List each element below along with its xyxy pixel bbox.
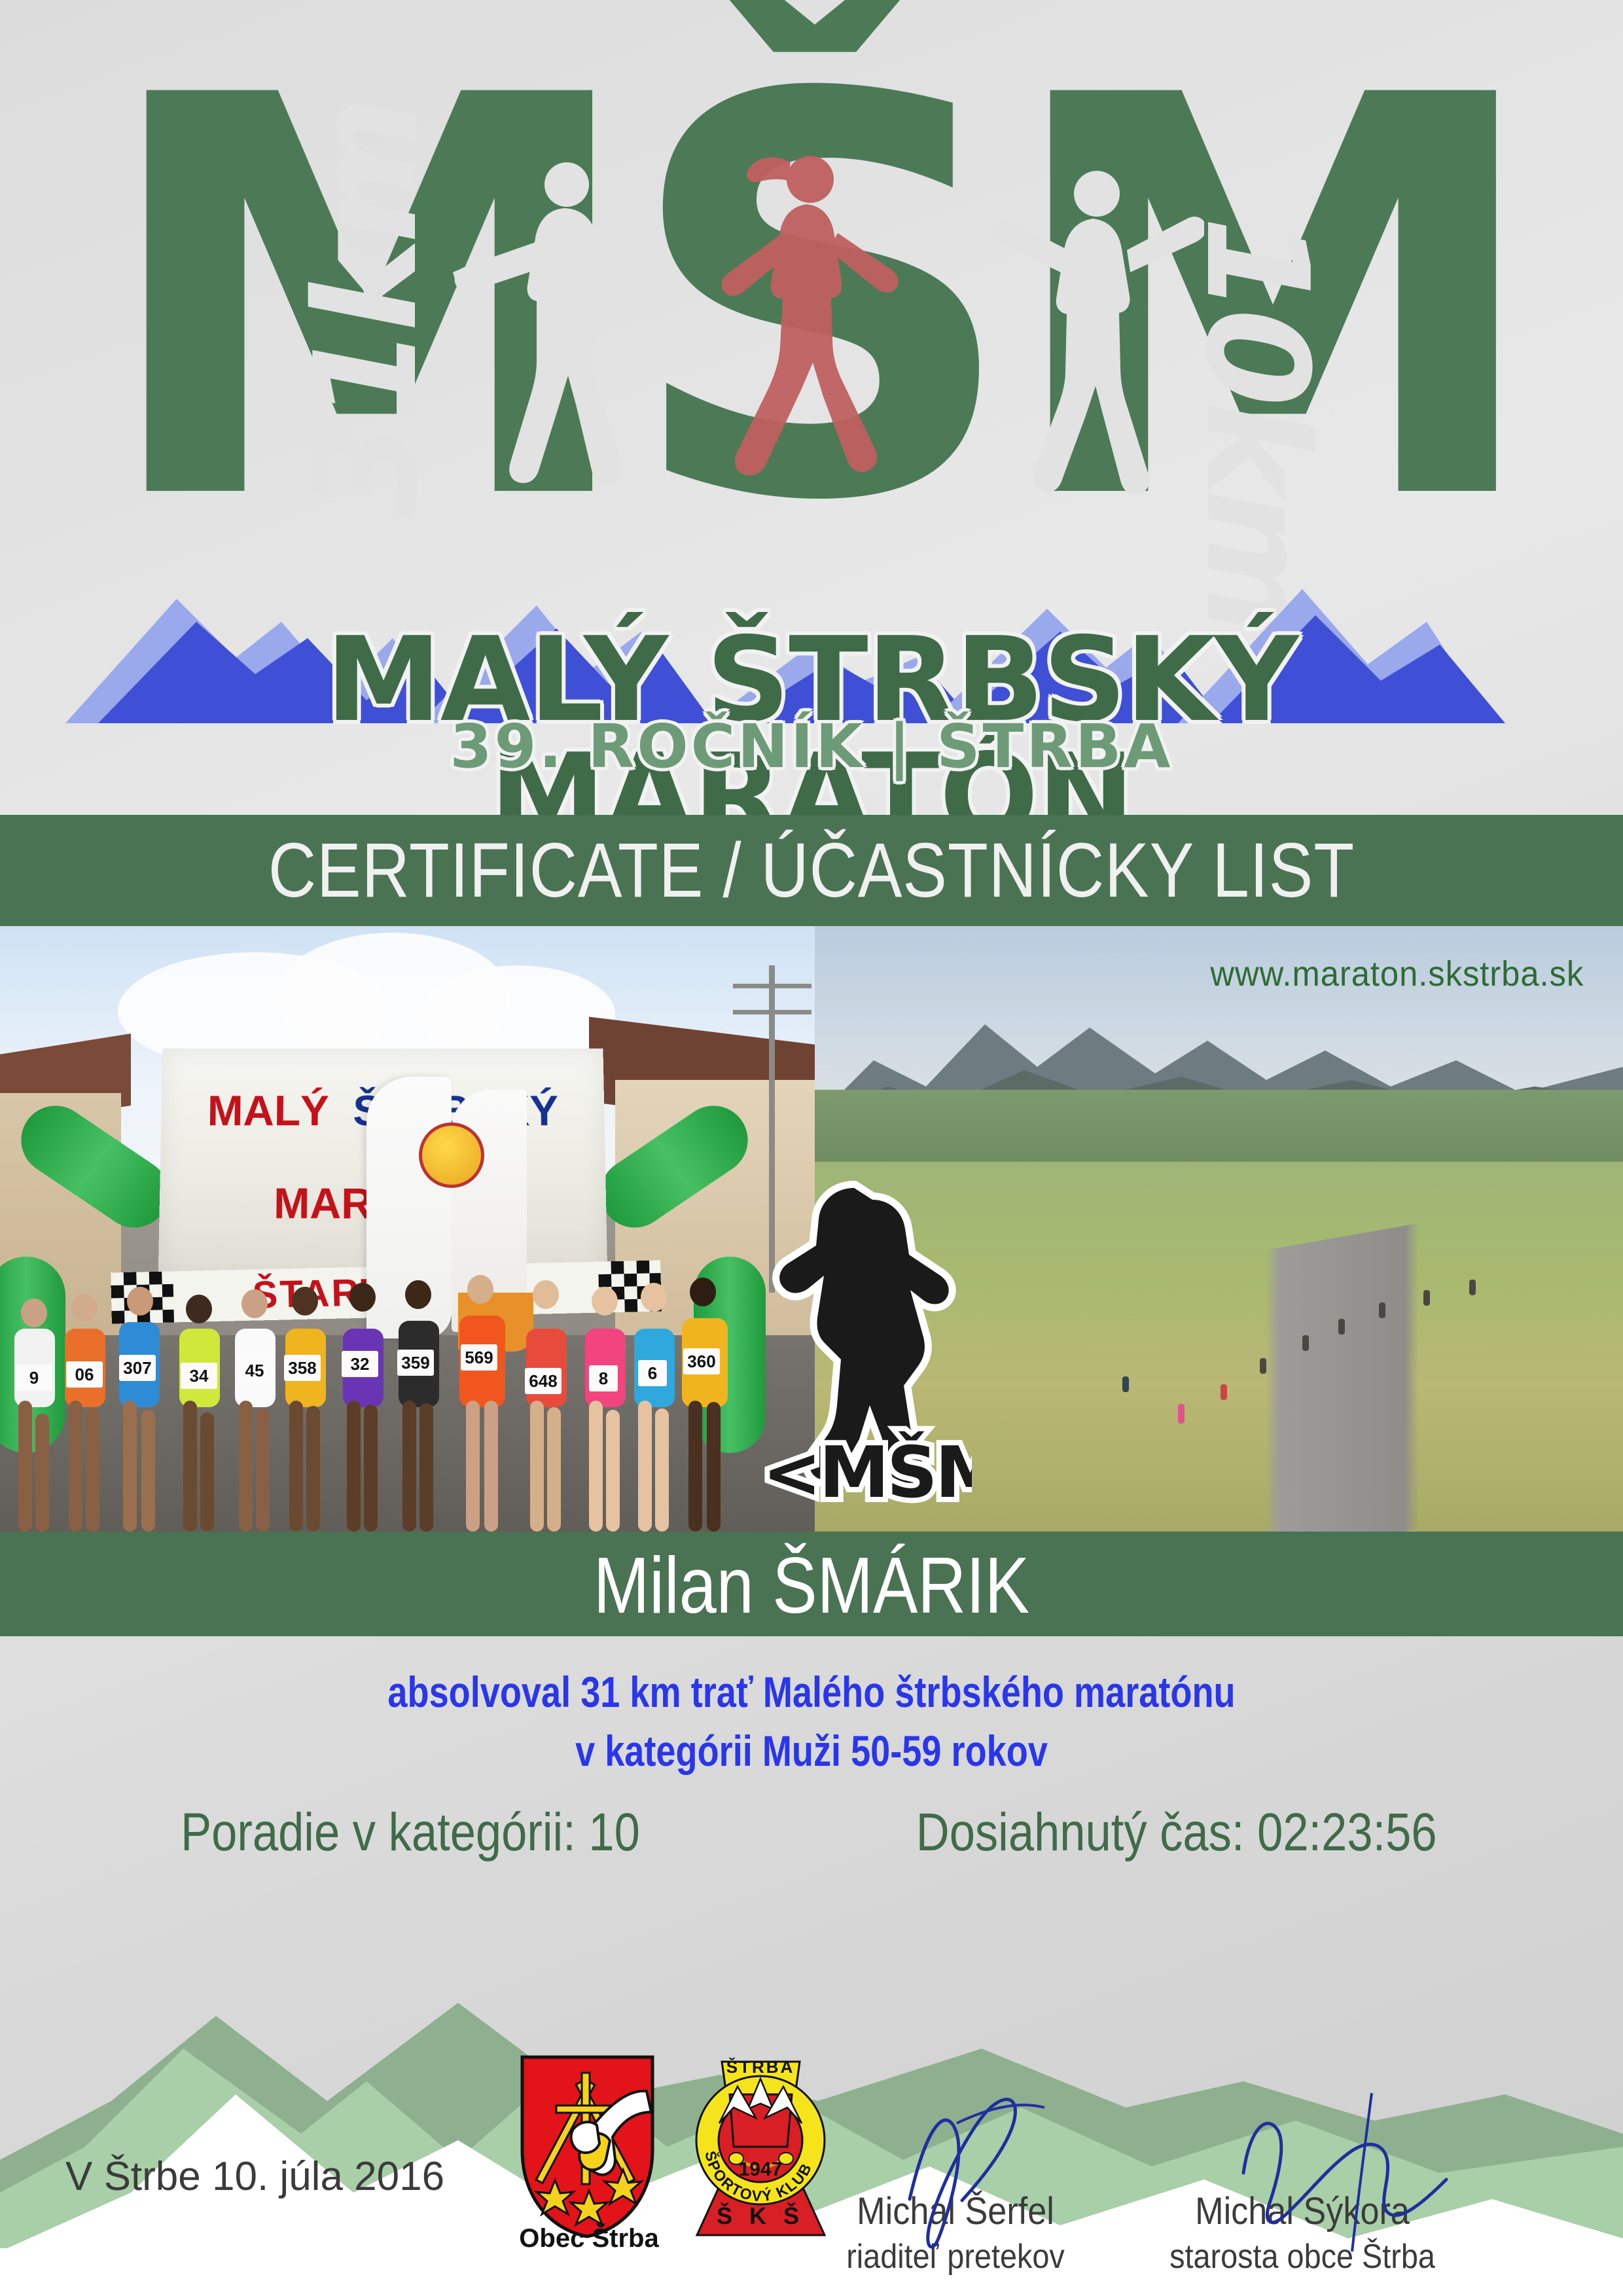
distant-runner [1379,1302,1385,1318]
signature-block-race-director: Michal Šerfel riaditeľ pretekov [772,2189,1139,2276]
distant-runner [1221,1384,1227,1400]
website-url: www.maraton.skstrba.sk [1210,954,1584,994]
utility-crossarm [733,1010,811,1014]
event-edition: 39. ROČNÍK | ŠTRBA [0,717,1623,777]
category-rank: Poradie v kategórii: 10 [181,1797,640,1869]
certificate-title: CERTIFICATE / ÚČASTNÍCKY LIST [114,821,1510,920]
signatory-role: starosta obce Štrba [1137,2237,1467,2276]
distant-runner [1469,1280,1476,1295]
distant-spectator [1122,1376,1129,1392]
signatory-name: Michal Šerfel [791,2189,1120,2233]
logo-header: MŠM [0,0,1623,815]
msm-runner-standee-icon: <MŠM> [756,1175,972,1515]
photo-strip: MALÝ ŠTRBSKÝ MARATÓN ŠTART - CIEĽ [0,926,1623,1532]
signatory-name: Michal Sýkora [1137,2189,1467,2233]
distant-runner [1423,1290,1430,1306]
distant-runner [1338,1319,1345,1335]
signature-block-mayor: Michal Sýkora starosta obce Štrba [1119,2189,1486,2276]
obec-strba-coat-of-arms-icon [517,2052,658,2242]
signatory-role: riaditeľ pretekov [791,2237,1120,2276]
distance-badge-31km: 31km [196,216,537,517]
svg-text:<MŠM>: <MŠM> [762,1431,972,1514]
place-and-date: V Štrbe 10. júla 2016 [65,2153,444,2200]
certificate-page: MŠM [0,0,1623,2296]
achievement-description: absolvoval 31 km trať Malého štrbského m… [146,1662,1477,1780]
sks-year: 1947 [739,2159,783,2180]
distant-runner [1260,1358,1266,1374]
sponsor-badge-icon [419,1122,484,1188]
achievement-line-2: v kategórii Muži 50-59 rokov [146,1721,1477,1780]
distance-badge-10km: 10km [1086,216,1427,517]
distant-runner [1302,1335,1309,1351]
runner-silhouette-female [713,151,910,576]
photo-start-line: MALÝ ŠTRBSKÝ MARATÓN ŠTART - CIEĽ [0,926,815,1532]
arch-word-maly: MALÝ [207,1086,329,1134]
utility-crossarm [733,984,811,988]
obec-strba-caption: Obec Štrba [510,2224,668,2253]
achievement-line-1: absolvoval 31 km trať Malého štrbského m… [146,1662,1477,1721]
results-row: Poradie v kategórii: 10 Dosiahnutý čas: … [0,1797,1623,1869]
sks-top-text: ŠTRBA [726,2057,795,2077]
participant-name: Milan ŠMÁRIK [130,1539,1493,1631]
distant-runner [1178,1404,1185,1424]
runner-pack: 9 06 307 34 [0,1191,815,1532]
finish-time: Dosiahnutý čas: 02:23:56 [916,1797,1437,1869]
